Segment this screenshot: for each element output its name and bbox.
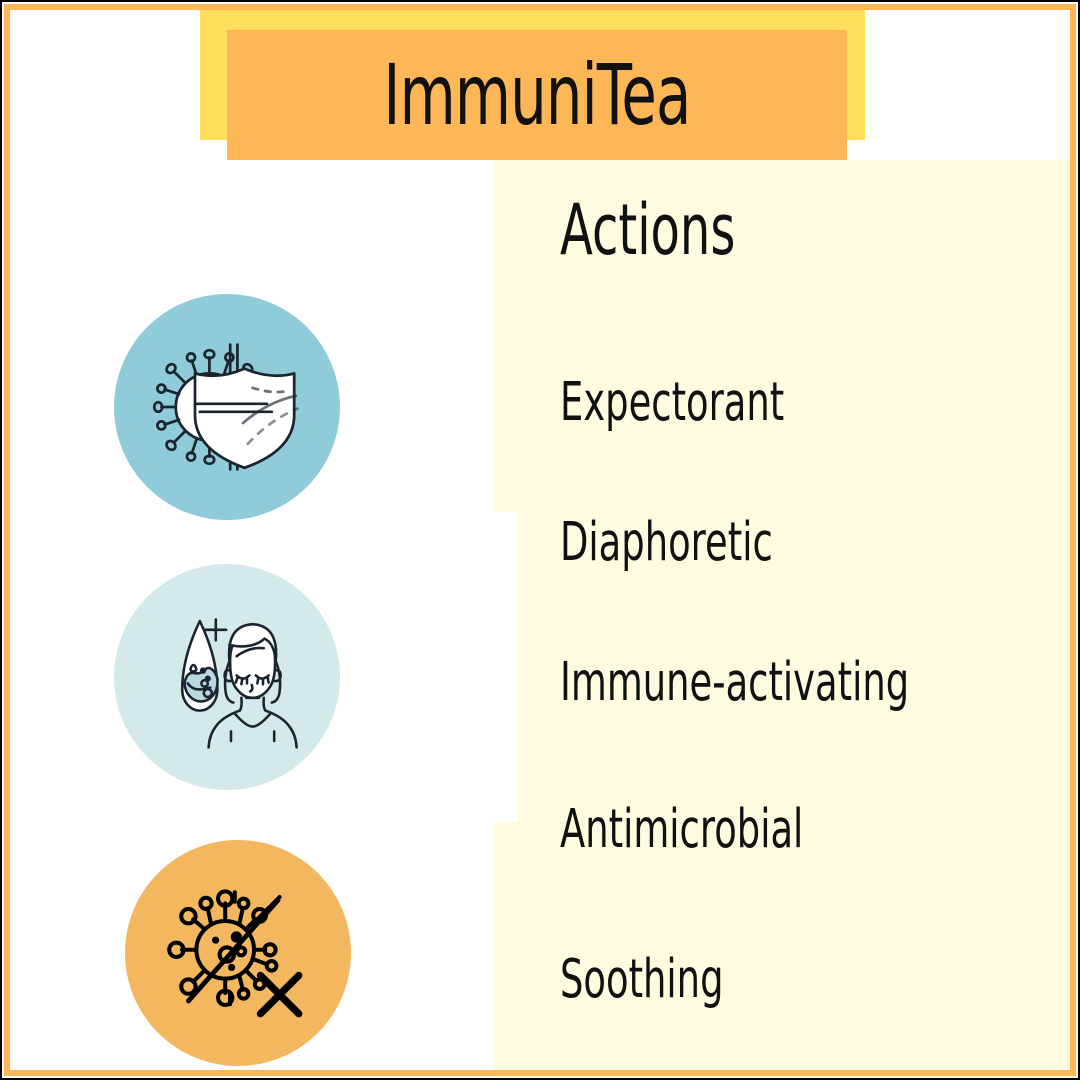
page-title: ImmuniTea bbox=[383, 53, 690, 137]
antimicrobial-glyph bbox=[158, 873, 318, 1033]
shield-virus-glyph bbox=[147, 327, 307, 487]
action-item: Expectorant bbox=[560, 375, 784, 428]
action-item: Soothing bbox=[560, 952, 724, 1005]
antimicrobial-icon bbox=[125, 840, 351, 1066]
immunitea-infographic-card: ImmuniTea bbox=[0, 0, 1080, 1080]
action-item: Immune-activating bbox=[560, 655, 909, 708]
actions-heading: Actions bbox=[560, 195, 735, 266]
title-banner: ImmuniTea bbox=[227, 30, 847, 160]
action-item: Diaphoretic bbox=[560, 515, 773, 568]
hydration-face-glyph bbox=[147, 597, 307, 757]
shield-virus-icon bbox=[114, 294, 340, 520]
action-item: Antimicrobial bbox=[560, 802, 803, 855]
hydration-face-icon bbox=[114, 564, 340, 790]
